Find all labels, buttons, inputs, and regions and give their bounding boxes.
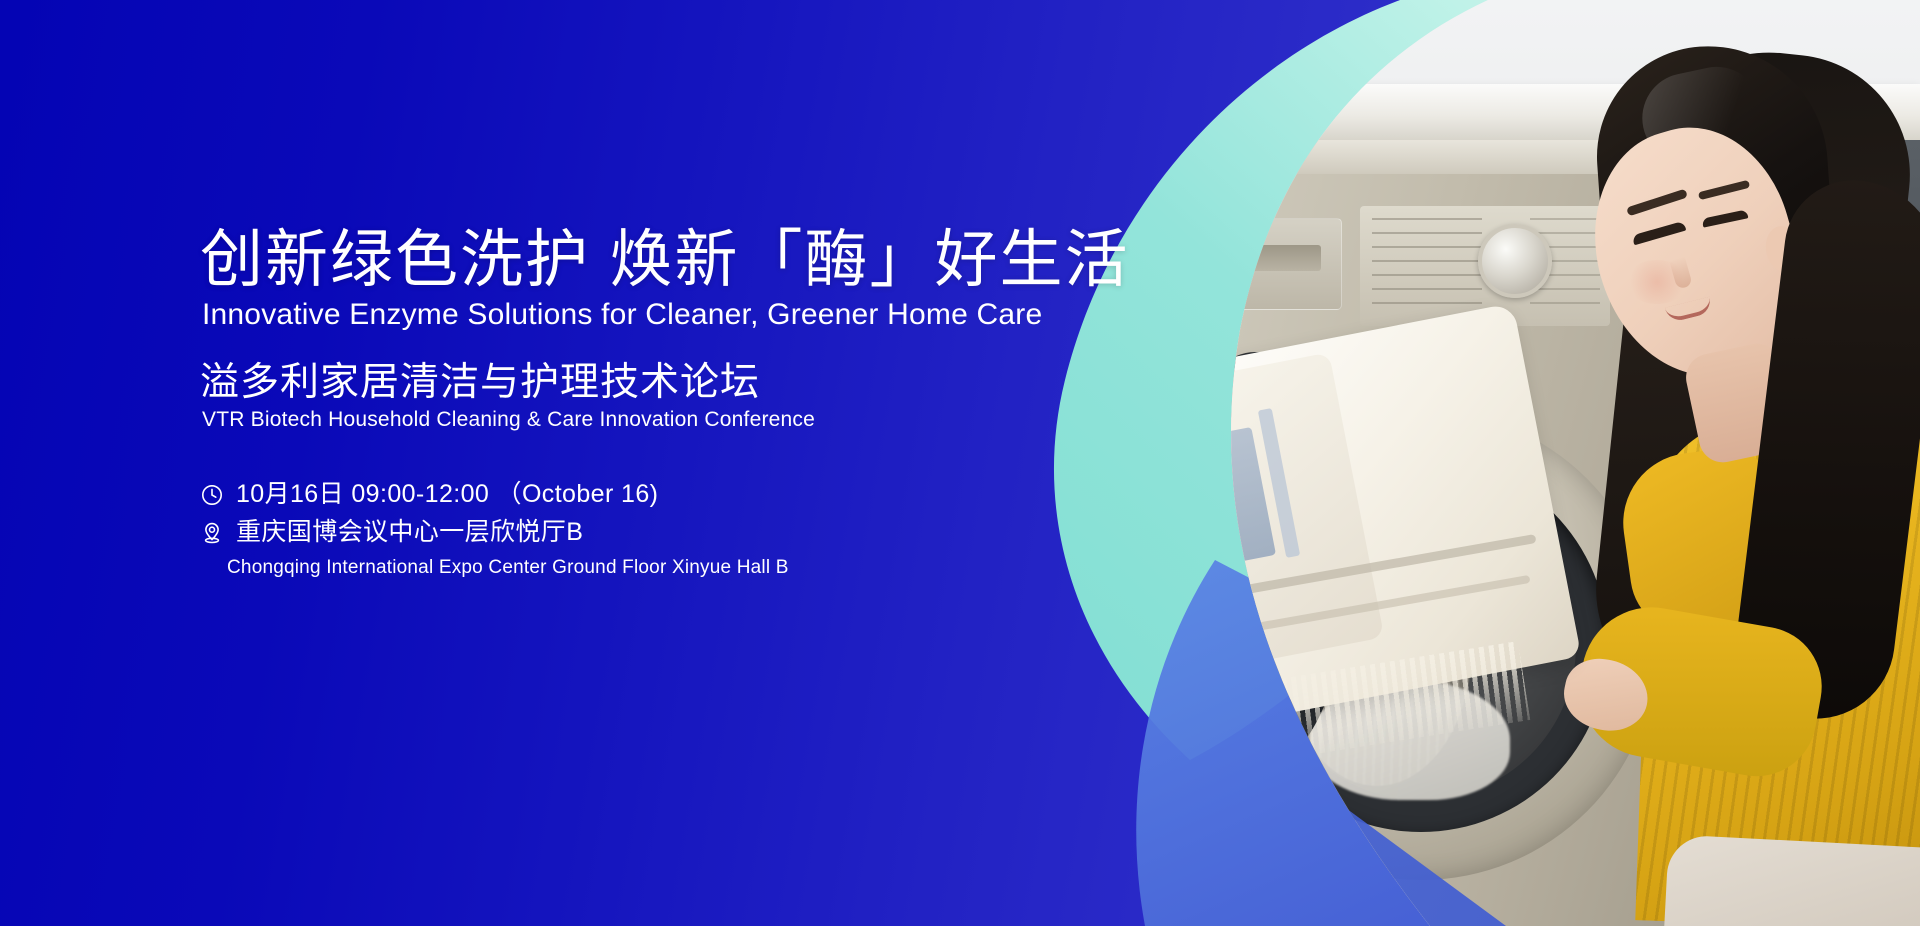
- clock-icon: [200, 483, 224, 507]
- map-pin-icon: [200, 521, 224, 545]
- conference-banner: 创新绿色洗护 焕新「酶」好生活 Innovative Enzyme Soluti…: [0, 0, 1920, 926]
- subtitle-chinese: 溢多利家居清洁与护理技术论坛: [200, 362, 760, 405]
- title-english: Innovative Enzyme Solutions for Cleaner,…: [202, 298, 1042, 331]
- subtitle-english: VTR Biotech Household Cleaning & Care In…: [202, 408, 815, 431]
- event-details: 10月16日 09:00-12:00 （October 16) 重庆国博会议中心…: [200, 480, 789, 580]
- venue-row: 重庆国博会议中心一层欣悦厅B: [200, 518, 789, 546]
- venue-text-chinese: 重庆国博会议中心一层欣悦厅B: [236, 518, 583, 546]
- datetime-text: 10月16日 09:00-12:00 （October 16): [236, 480, 658, 508]
- venue-text-english: Chongqing International Expo Center Grou…: [200, 556, 789, 580]
- title-chinese: 创新绿色洗护 焕新「酶」好生活: [200, 228, 1130, 292]
- banner-content: 创新绿色洗护 焕新「酶」好生活 Innovative Enzyme Soluti…: [200, 0, 1100, 926]
- datetime-row: 10月16日 09:00-12:00 （October 16): [200, 480, 789, 508]
